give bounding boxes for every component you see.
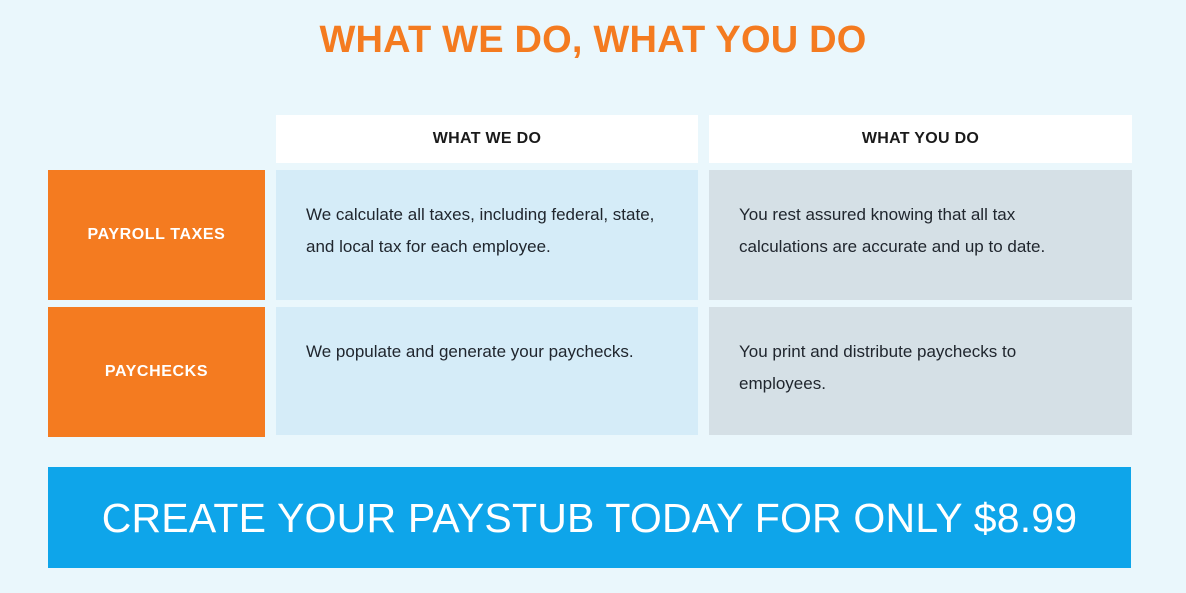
cell-paychecks-what-we-do: We populate and generate your paychecks. — [276, 307, 698, 435]
create-paystub-cta-label: CREATE YOUR PAYSTUB TODAY FOR ONLY $8.99 — [102, 494, 1078, 542]
cell-paychecks-what-you-do: You print and distribute paychecks to em… — [709, 307, 1132, 435]
page-root: WHAT WE DO, WHAT YOU DO WHAT WE DO WHAT … — [0, 0, 1186, 593]
row-label-paychecks: PAYCHECKS — [48, 307, 265, 437]
cell-payroll-taxes-what-you-do: You rest assured knowing that all tax ca… — [709, 170, 1132, 300]
column-header-what-we-do: WHAT WE DO — [276, 115, 698, 163]
table-corner-spacer — [48, 115, 265, 163]
row-label-payroll-taxes: PAYROLL TAXES — [48, 170, 265, 300]
cell-payroll-taxes-what-we-do: We calculate all taxes, including federa… — [276, 170, 698, 300]
create-paystub-cta-button[interactable]: CREATE YOUR PAYSTUB TODAY FOR ONLY $8.99 — [48, 467, 1131, 568]
column-header-what-you-do: WHAT YOU DO — [709, 115, 1132, 163]
page-title: WHAT WE DO, WHAT YOU DO — [0, 17, 1186, 63]
comparison-table: WHAT WE DO WHAT YOU DO PAYROLL TAXES We … — [48, 115, 1131, 437]
